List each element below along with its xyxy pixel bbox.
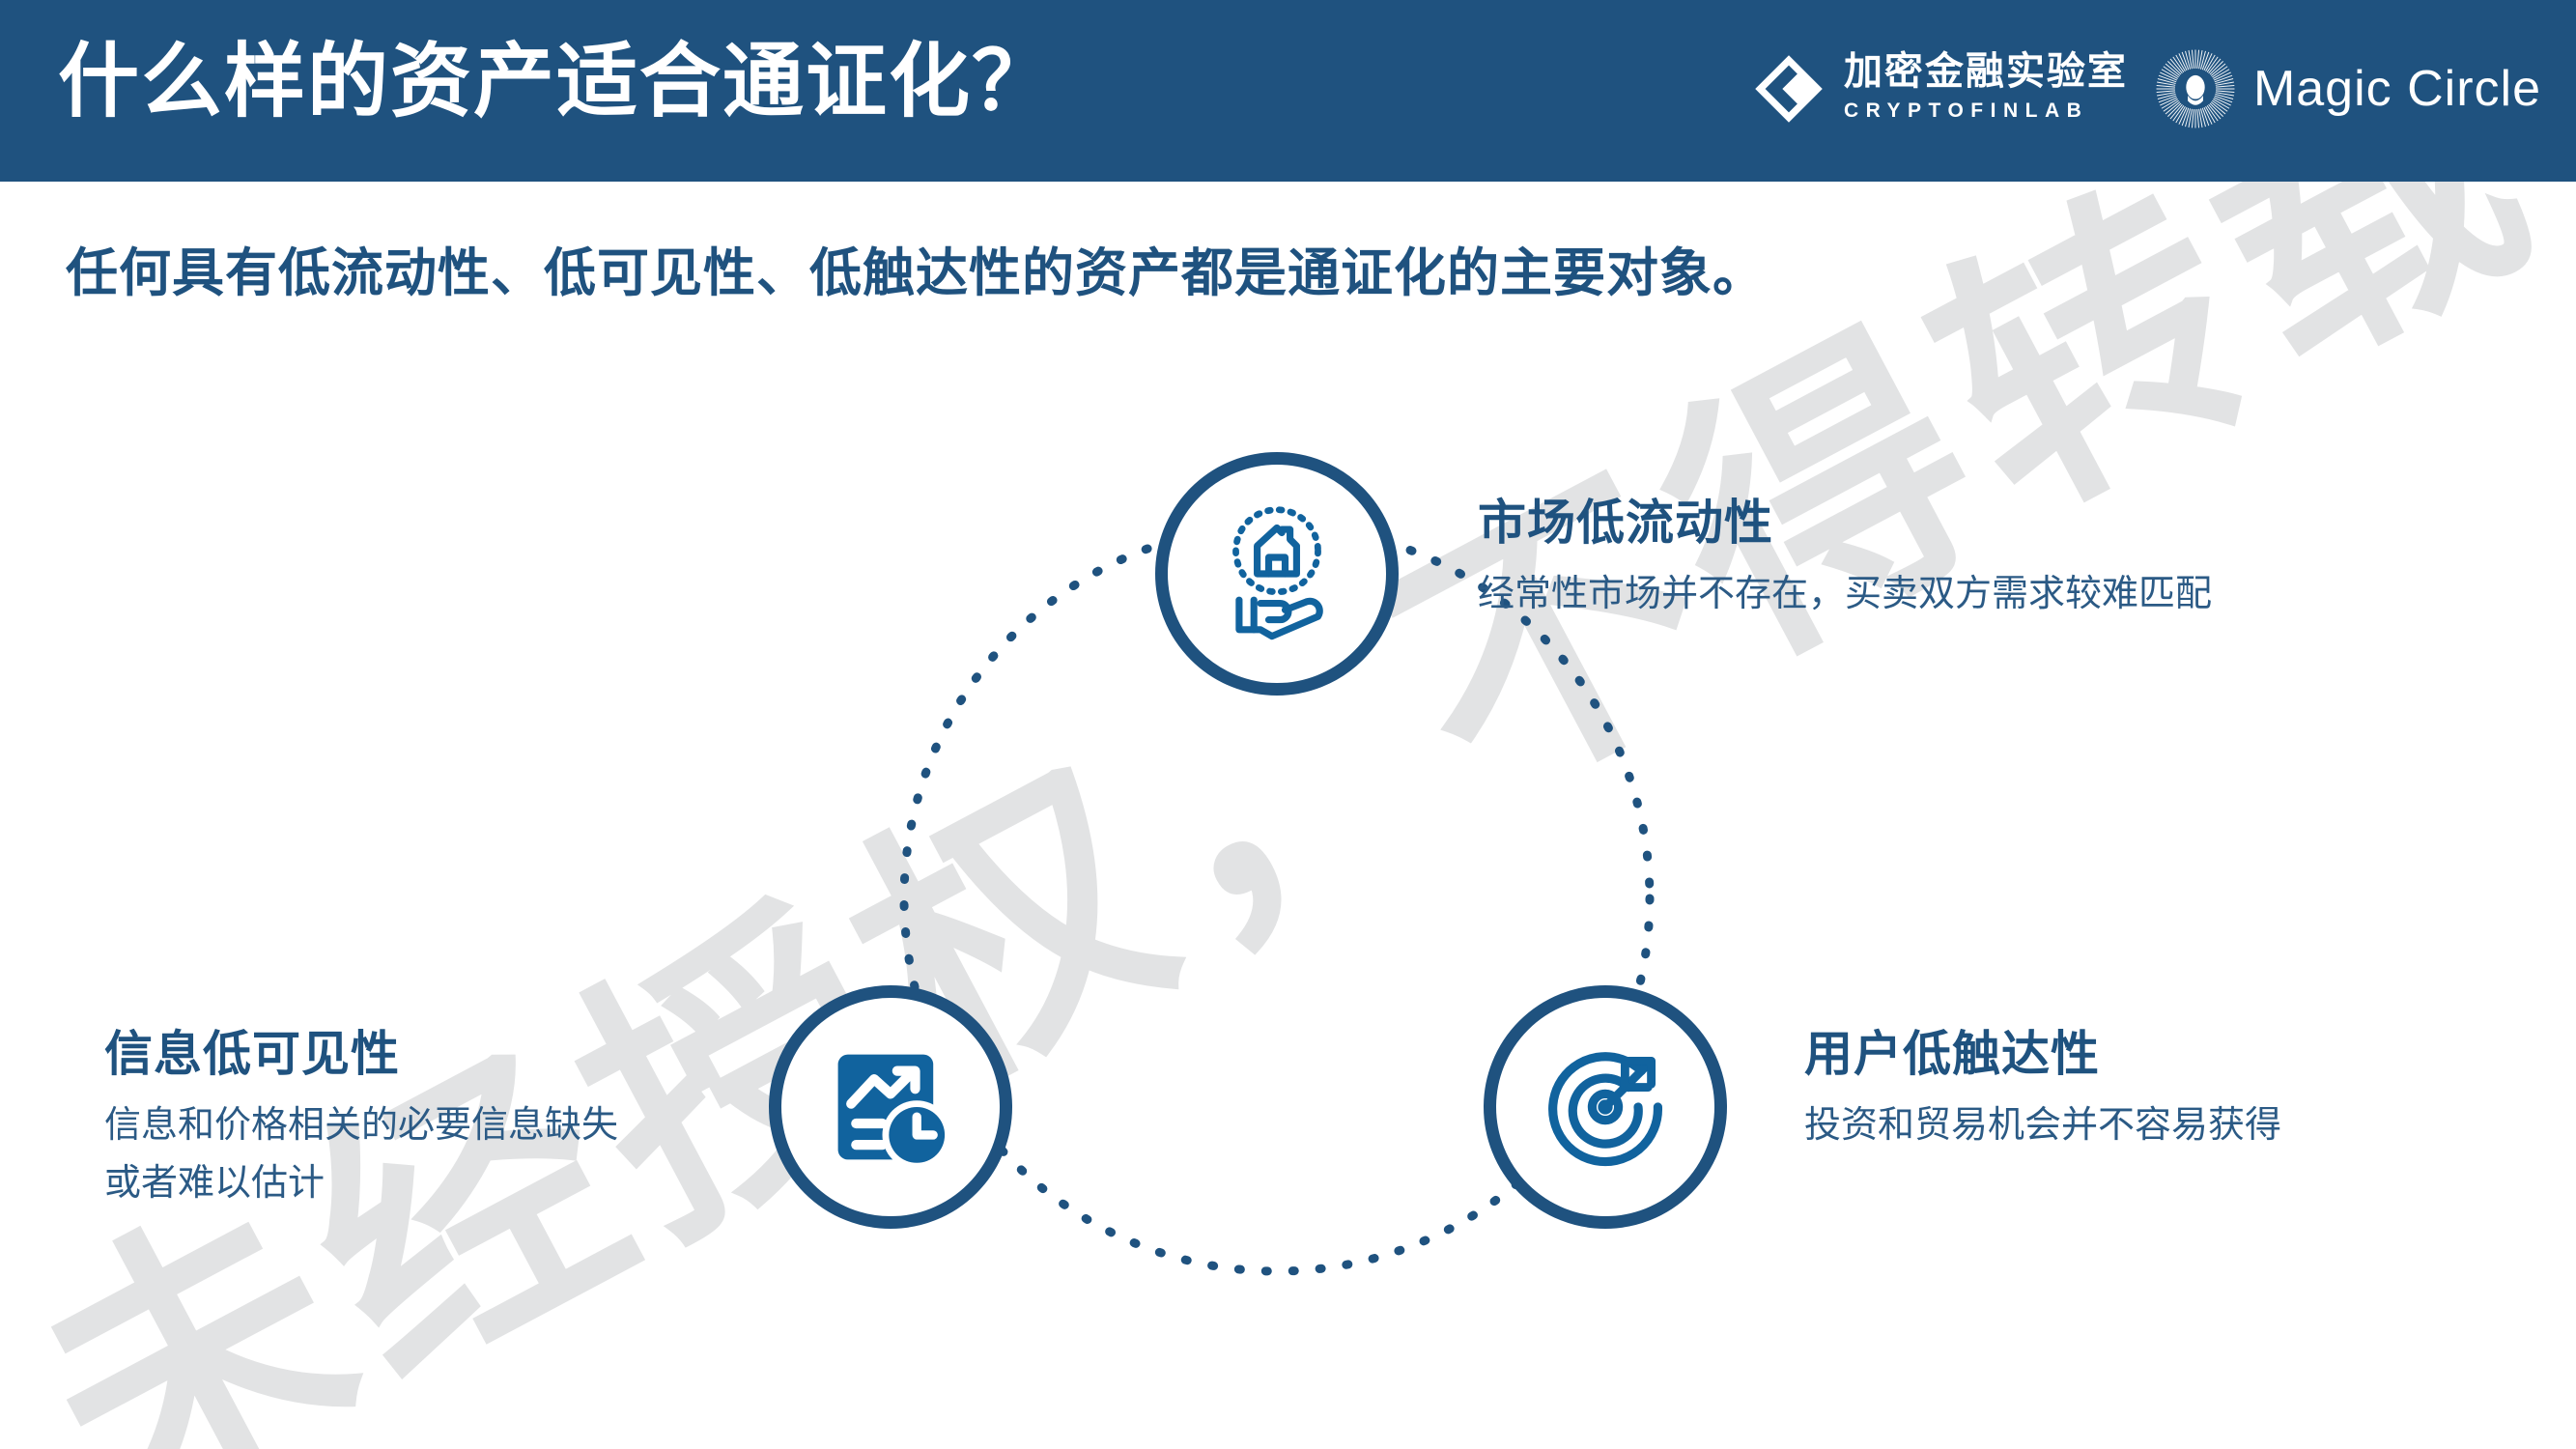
house-in-hand-icon [1195, 492, 1359, 656]
label-visibility: 信息低可见性 信息和价格相关的必要信息缺失 或者难以估计 [104, 1024, 618, 1213]
chart-clock-report-icon [808, 1025, 973, 1189]
subtitle-text: 任何具有低流动性、低可见性、低触达性的资产都是通证化的主要对象。 [66, 230, 1766, 306]
cycle-diagram: 市场低流动性 经常性市场并不存在，买卖双方需求较难匹配 信息低可见性 信息和价格… [0, 0, 2576, 1449]
label-visibility-desc: 信息和价格相关的必要信息缺失 或者难以估计 [104, 1096, 618, 1214]
label-reach-desc-line-1: 投资和贸易机会并不容易获得 [1804, 1096, 2281, 1155]
magic-circle-wordmark: Magic Circle [2253, 60, 2541, 118]
logo-group: 加密金融实验室 CRYPTOFINLAB Magic Circle [1753, 43, 2541, 135]
node-visibility[interactable] [769, 985, 1012, 1229]
cryptofinlab-en-name: CRYPTOFINLAB [1844, 96, 2128, 127]
dotted-connector-circle [0, 0, 2576, 1449]
magic-circle-logo: Magic Circle [2153, 46, 2541, 131]
page-title: 什么样的资产适合通证化？ [58, 37, 1055, 126]
cryptofinlab-wordmark: 加密金融实验室 CRYPTOFINLAB [1844, 51, 2128, 127]
label-reach: 用户低触达性 投资和贸易机会并不容易获得 [1804, 1024, 2281, 1154]
label-visibility-desc-line-2: 或者难以估计 [104, 1154, 618, 1213]
diamond-logo-icon [1753, 53, 1825, 125]
target-arrow-icon [1523, 1025, 1687, 1189]
label-liquidity: 市场低流动性 经常性市场并不存在，买卖双方需求较难匹配 [1478, 493, 2212, 623]
radial-circle-logo-icon [2153, 46, 2238, 131]
label-liquidity-desc: 经常性市场并不存在，买卖双方需求较难匹配 [1478, 565, 2212, 624]
slide-root: 未经授权，不得转载 什么样的资产适合通证化？ 加密金融实验室 CRYPTOFIN… [0, 0, 2576, 1449]
label-liquidity-desc-line-1: 经常性市场并不存在，买卖双方需求较难匹配 [1478, 565, 2212, 624]
label-visibility-desc-line-1: 信息和价格相关的必要信息缺失 [104, 1096, 618, 1155]
node-reach[interactable] [1484, 985, 1727, 1229]
label-visibility-title: 信息低可见性 [104, 1024, 618, 1085]
label-reach-desc: 投资和贸易机会并不容易获得 [1804, 1096, 2281, 1155]
cryptofinlab-logo: 加密金融实验室 CRYPTOFINLAB [1753, 51, 2128, 127]
cryptofinlab-cn-name: 加密金融实验室 [1844, 51, 2128, 92]
label-reach-title: 用户低触达性 [1804, 1024, 2281, 1085]
header-bar: 什么样的资产适合通证化？ 加密金融实验室 CRYPTOFINLAB [0, 0, 2576, 182]
label-liquidity-title: 市场低流动性 [1478, 493, 2212, 554]
node-liquidity[interactable] [1155, 452, 1399, 696]
